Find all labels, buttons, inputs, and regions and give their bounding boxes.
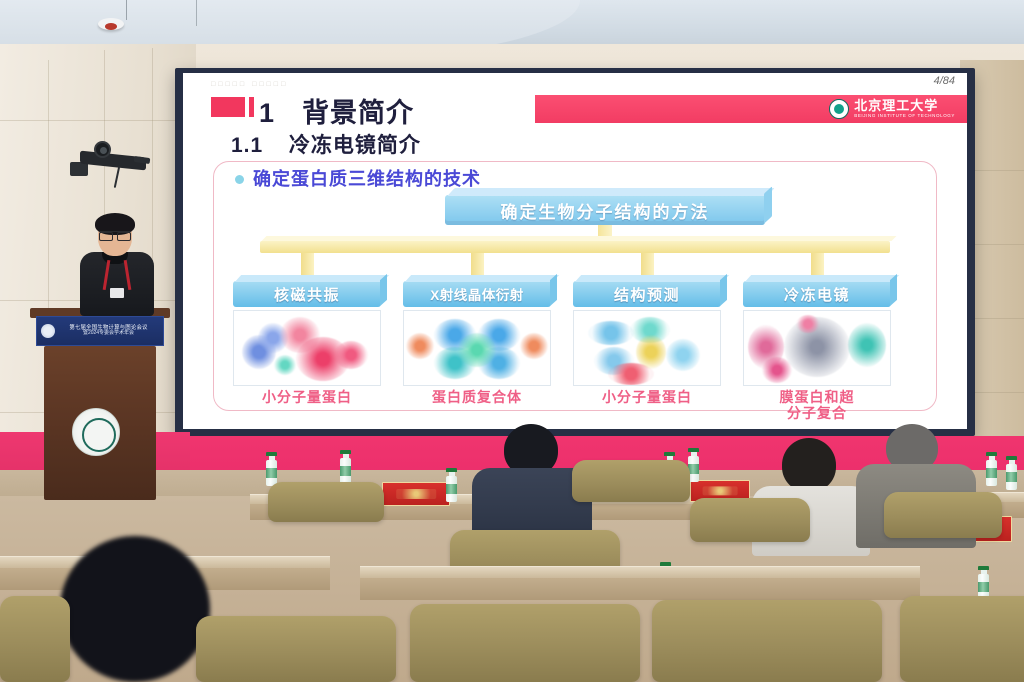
diagram-node-cryoem: 冷冻电镜 膜蛋白和超 分子复合: [743, 281, 891, 421]
speaker-badge: [110, 288, 124, 298]
diagram-node-prediction: 结构预测 小分子量蛋白: [573, 281, 721, 405]
audience-chair: [900, 596, 1024, 682]
audience-table: [360, 566, 920, 578]
structure-image-cryoem: [743, 310, 891, 386]
structure-image-prediction: [573, 310, 721, 386]
person-head: [782, 438, 836, 492]
slide-title-text: 背景简介: [302, 98, 414, 128]
audience-chair: [652, 600, 882, 682]
podium-university-emblem-icon: [72, 408, 120, 456]
university-logo-name-en: BEIJING INSTITUTE OF TECHNOLOGY: [854, 114, 955, 119]
title-accent-bar: [211, 97, 245, 117]
ceiling-wire: [126, 0, 127, 20]
diagram-root-node: 确定生物分子结构的方法: [445, 195, 765, 225]
structure-image-xray: [403, 310, 551, 386]
slide-page-number: 4/84: [934, 75, 955, 87]
audience-chair: [884, 492, 1002, 538]
water-bottle: [1006, 456, 1017, 490]
audience-chair: [572, 460, 690, 502]
slide-bullet-text: 确定蛋白质三维结构的技术: [253, 165, 481, 191]
diagram-node-nmr: 核磁共振 小分子量蛋白: [233, 281, 381, 405]
podium-banner-line2: 暨2024专委会学术年会: [58, 331, 159, 337]
university-logo: 北京理工大学 BEIJING INSTITUTE OF TECHNOLOGY: [829, 97, 955, 121]
water-bottle: [978, 566, 989, 600]
diagram-node-caption: 小分子量蛋白: [233, 389, 381, 405]
audience-chair: [196, 616, 396, 682]
diagram-node-title: X射线晶体衍射: [403, 281, 551, 307]
diagram-node-caption: 蛋白质复合体: [403, 389, 551, 405]
podium-body: [44, 346, 156, 500]
water-bottle: [986, 452, 997, 486]
diagram-node-xray: X射线晶体衍射 蛋白质复合体: [403, 281, 551, 405]
diagram-horizontal-connector: [260, 241, 890, 253]
bullet-marker-icon: [235, 175, 244, 184]
slide-subtitle-number: 1.1: [231, 134, 263, 157]
water-bottle: [266, 452, 277, 486]
water-bottle: [340, 450, 351, 484]
wall-mounted-camera-icon: [70, 140, 148, 176]
foreground-person-head: [60, 536, 210, 682]
slide-subtitle: 1.1 冷冻电镜简介: [231, 129, 421, 159]
projection-screen: □□□□□ □□□□□ 4/84 北京理工大学 BEIJING INSTITUT…: [183, 73, 967, 429]
smoke-detector-icon: [98, 18, 124, 30]
audience-table-skirt: [360, 578, 920, 600]
podium-banner-emblem-icon: [41, 324, 55, 338]
diagram-node-caption: 膜蛋白和超 分子复合: [743, 389, 891, 421]
audience-chair: [268, 482, 384, 522]
university-logo-name-cn: 北京理工大学: [854, 99, 955, 112]
audience-chair: [690, 498, 810, 542]
slide-title: 1 背景简介: [259, 91, 414, 130]
diagram-node-title: 结构预测: [573, 281, 721, 307]
slide-faint-header: □□□□□ □□□□□: [211, 81, 288, 88]
wall-seam: [0, 120, 180, 121]
presentation-slide: □□□□□ □□□□□ 4/84 北京理工大学 BEIJING INSTITUT…: [183, 73, 967, 429]
ceiling-wire-secondary: [196, 0, 197, 26]
podium-banner: 第七届全国生物计算与图论会议 暨2024专委会学术年会: [36, 316, 164, 346]
diagram-node-caption: 小分子量蛋白: [573, 389, 721, 405]
diagram-node-title: 核磁共振: [233, 281, 381, 307]
slide-title-number: 1: [259, 98, 275, 128]
water-bottle: [446, 468, 457, 502]
conference-hall-scene: □□□□□ □□□□□ 4/84 北京理工大学 BEIJING INSTITUT…: [0, 0, 1024, 682]
podium: 第七届全国生物计算与图论会议 暨2024专委会学术年会: [36, 308, 164, 500]
speaker-person: [74, 216, 164, 316]
structure-image-nmr: [233, 310, 381, 386]
slide-subtitle-text: 冷冻电镜简介: [289, 134, 421, 157]
audience-chair: [0, 596, 70, 682]
diagram-node-title: 冷冻电镜: [743, 281, 891, 307]
audience-chair: [410, 604, 640, 682]
university-logo-mark: [829, 99, 849, 119]
glasses-icon: [99, 231, 131, 238]
name-card: [382, 482, 450, 506]
